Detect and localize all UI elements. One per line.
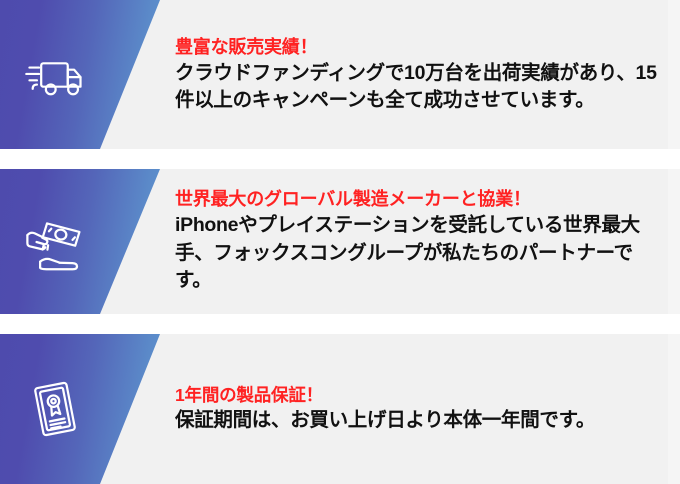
card-headline: 豊富な販売実績！ [175, 36, 666, 60]
feature-card-warranty: 1年間の製品保証！ 保証期間は、お買い上げ日より本体一年間です。 [0, 334, 680, 484]
card-body: 保証期間は、お買い上げ日より本体一年間です。 [175, 407, 666, 435]
card-divider-gap [0, 314, 680, 334]
money-handoff-icon [18, 205, 92, 279]
card-divider-gap [0, 149, 680, 169]
card-headline: 1年間の製品保証！ [175, 384, 666, 407]
card-body: iPhoneやプレイステーションを受託している世界最大手、フォックスコングループ… [175, 212, 666, 295]
card-content: 1年間の製品保証！ 保証期間は、お買い上げ日より本体一年間です。 [175, 334, 666, 484]
card-content: 世界最大のグローバル製造メーカーと協業！ iPhoneやプレイステーションを受託… [175, 169, 666, 314]
card-content: 豊富な販売実績！ クラウドファンディングで10万台を出荷実績があり、15件以上の… [175, 0, 666, 149]
feature-card-global-manufacturer: 世界最大のグローバル製造メーカーと協業！ iPhoneやプレイステーションを受託… [0, 169, 680, 314]
feature-card-sales-record: 豊富な販売実績！ クラウドファンディングで10万台を出荷実績があり、15件以上の… [0, 0, 680, 149]
certificate-icon [18, 372, 92, 446]
feature-card-stack: 豊富な販売実績！ クラウドファンディングで10万台を出荷実績があり、15件以上の… [0, 0, 680, 484]
delivery-truck-icon [18, 38, 92, 112]
card-body: クラウドファンディングで10万台を出荷実績があり、15件以上のキャンペーンも全て… [175, 60, 666, 115]
card-headline: 世界最大のグローバル製造メーカーと協業！ [175, 188, 666, 212]
